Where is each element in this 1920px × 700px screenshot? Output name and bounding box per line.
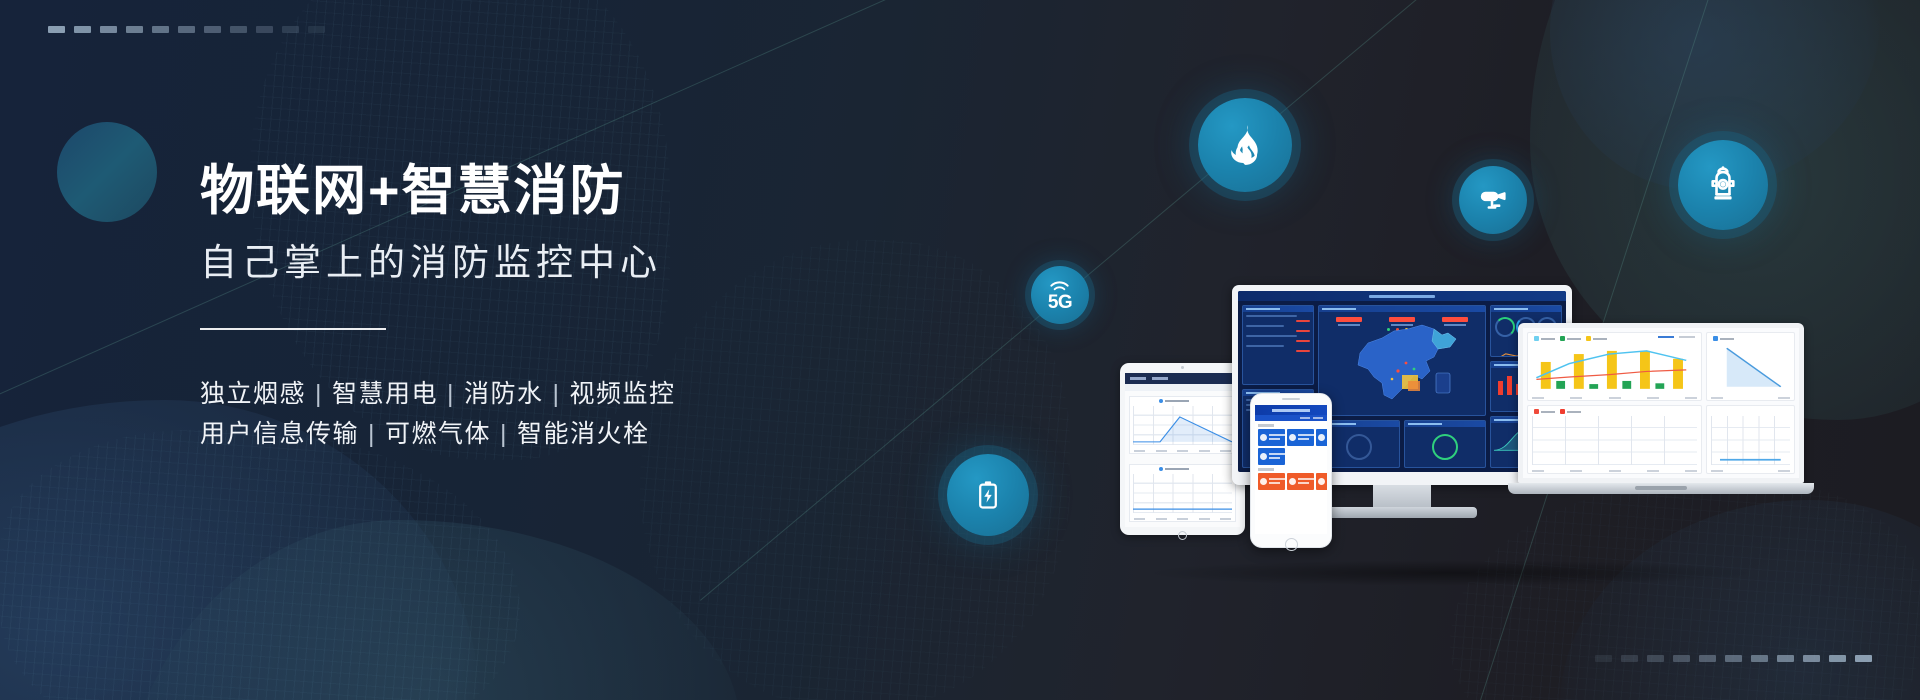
feature-line-1: 独立烟感|智慧用电|消防水|视频监控 [200, 374, 880, 415]
phone-screen [1255, 405, 1327, 534]
hero-banner: 物联网+智慧消防 自己掌上的消防监控中心 独立烟感|智慧用电|消防水|视频监控用… [0, 0, 1920, 700]
laptop-grid-card [1527, 405, 1702, 474]
decorative-dash [308, 26, 325, 33]
battery-icon [947, 454, 1029, 536]
dashboard-alarm-list [1242, 305, 1314, 385]
decorative-dash [230, 26, 247, 33]
phone-tile [1287, 429, 1314, 446]
monitor-stand-base [1327, 507, 1477, 518]
laptop-lid [1518, 323, 1804, 483]
tablet-app-header [1125, 373, 1240, 384]
tablet-mockup [1120, 363, 1245, 535]
feature-item: 独立烟感 [200, 380, 306, 408]
camera-icon [1459, 166, 1527, 234]
decorative-dash-row-top [48, 26, 325, 33]
decorative-dash [1699, 655, 1716, 662]
phone-tile [1258, 473, 1285, 490]
decorative-dash [1855, 655, 1872, 662]
dashboard-map-panel [1318, 305, 1486, 416]
phone-tile [1258, 448, 1285, 465]
laptop-screen [1523, 328, 1799, 478]
feature-separator: | [306, 380, 332, 408]
phone-tile [1258, 429, 1285, 446]
feature-item: 可燃气体 [385, 420, 491, 448]
monitor-stand-neck [1373, 485, 1431, 507]
laptop-flatline-card [1706, 405, 1795, 474]
decorative-dash [1829, 655, 1846, 662]
laptop-base [1508, 483, 1814, 494]
tablet-line-chart [1133, 474, 1232, 513]
feature-item: 视频监控 [570, 380, 676, 408]
phone-section-normal [1255, 421, 1327, 465]
decorative-dash [126, 26, 143, 33]
tablet-home-button [1178, 531, 1187, 540]
phone-speaker [1282, 398, 1300, 400]
feature-item: 智慧用电 [332, 380, 438, 408]
tablet-chart-card-1 [1129, 396, 1236, 454]
feature-line-2: 用户信息传输|可燃气体|智能消火栓 [200, 414, 880, 455]
feature-item: 消防水 [464, 380, 544, 408]
tablet-toolbar [1125, 384, 1240, 391]
feature-separator: | [491, 420, 517, 448]
decorative-dash [152, 26, 169, 33]
phone-tile [1316, 429, 1327, 446]
dashboard-gauge-panel [1404, 420, 1486, 468]
decorative-dash [256, 26, 273, 33]
feature-list: 独立烟感|智慧用电|消防水|视频监控用户信息传输|可燃气体|智能消火栓 [200, 374, 880, 455]
tablet-area-chart [1133, 406, 1232, 445]
phone-tile [1287, 473, 1314, 490]
tablet-camera-dot [1181, 366, 1184, 369]
phone-app-header [1255, 405, 1327, 415]
decorative-dash [282, 26, 299, 33]
hydrant-icon [1678, 140, 1768, 230]
china-map-graphic [1338, 313, 1466, 413]
decorative-dash [100, 26, 117, 33]
bg-blob-bottom-left-2 [120, 520, 740, 700]
title-divider [200, 328, 386, 330]
phone-home-button [1285, 538, 1298, 551]
page-subtitle: 自己掌上的消防监控中心 [200, 240, 880, 286]
laptop-combo-chart [1532, 343, 1697, 392]
feature-separator: | [544, 380, 570, 408]
dashboard-title-bar [1238, 291, 1566, 301]
decorative-dash [1803, 655, 1820, 662]
decorative-dash [178, 26, 195, 33]
laptop-mockup [1518, 323, 1804, 494]
decorative-dash [74, 26, 91, 33]
decorative-dash [1725, 655, 1742, 662]
feature-separator: | [438, 380, 464, 408]
laptop-bar-chart-card [1527, 332, 1702, 401]
decorative-dash [1777, 655, 1794, 662]
decorative-dash [1647, 655, 1664, 662]
decorative-dash [1673, 655, 1690, 662]
smartphone-mockup [1250, 393, 1332, 548]
5g-icon: 5G [1031, 266, 1089, 324]
laptop-descending-area [1711, 343, 1790, 392]
laptop-flat-line [1711, 416, 1790, 465]
decorative-dash [48, 26, 65, 33]
feature-item: 用户信息传输 [200, 420, 359, 448]
decorative-dash-row-bottom [1595, 655, 1872, 662]
tablet-screen [1125, 373, 1240, 527]
device-mockups [1120, 285, 1800, 585]
decorative-dash [1595, 655, 1612, 662]
decorative-dash [1751, 655, 1768, 662]
bg-teal-circle [57, 122, 157, 222]
phone-section-alarm [1255, 465, 1327, 490]
wifi-waves-icon [1048, 279, 1071, 292]
flame-icon [1198, 98, 1292, 192]
feature-item: 智能消火栓 [517, 420, 650, 448]
hero-copy: 物联网+智慧消防 自己掌上的消防监控中心 独立烟感|智慧用电|消防水|视频监控用… [200, 160, 880, 455]
5g-label: 5G [1048, 293, 1072, 312]
feature-separator: | [359, 420, 385, 448]
decorative-dash [1621, 655, 1638, 662]
phone-tile [1316, 473, 1327, 490]
laptop-area-chart-card [1706, 332, 1795, 401]
page-title: 物联网+智慧消防 [200, 160, 880, 224]
decorative-dash [204, 26, 221, 33]
bg-mesh-pattern-b [0, 430, 520, 700]
tablet-chart-card-2 [1129, 464, 1236, 522]
